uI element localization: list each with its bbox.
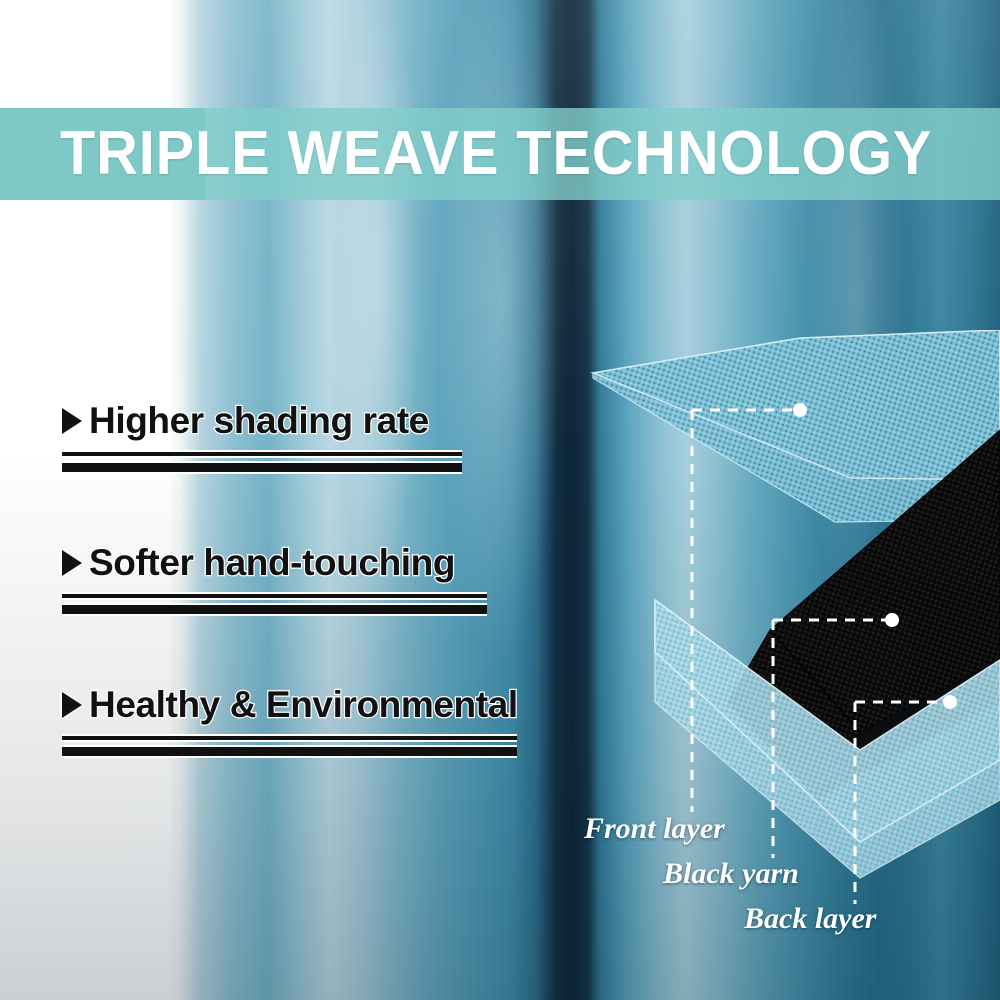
caption-front-layer: Front layer <box>584 812 725 846</box>
page-title: TRIPLE WEAVE TECHNOLOGY <box>60 108 932 200</box>
caption-black-yarn: Black yarn <box>663 857 799 891</box>
feature-item-healthy: Healthy & Environmental <box>62 684 582 758</box>
feature-label: Softer hand-touching <box>89 542 455 584</box>
feature-item-shading: Higher shading rate <box>62 400 582 474</box>
feature-list: Higher shading rate Softer hand-touching… <box>62 400 582 826</box>
feature-underline <box>62 592 487 616</box>
underline-thick <box>62 745 517 758</box>
underline-thick <box>62 461 462 474</box>
triangle-bullet-icon <box>62 408 82 434</box>
underline-thick <box>62 603 487 616</box>
triangle-bullet-icon <box>62 692 82 718</box>
underline-thin <box>62 450 462 458</box>
product-feature-image: TRIPLE WEAVE TECHNOLOGY Higher shading r… <box>0 0 1000 1000</box>
feature-label: Higher shading rate <box>89 400 429 442</box>
headline-banner: TRIPLE WEAVE TECHNOLOGY <box>0 108 1000 200</box>
underline-thin <box>62 734 517 742</box>
feature-underline <box>62 450 462 474</box>
caption-back-layer: Back layer <box>744 902 876 936</box>
feature-item-softness: Softer hand-touching <box>62 542 582 616</box>
underline-thin <box>62 592 487 600</box>
feature-label: Healthy & Environmental <box>89 684 518 726</box>
triangle-bullet-icon <box>62 550 82 576</box>
feature-underline <box>62 734 517 758</box>
